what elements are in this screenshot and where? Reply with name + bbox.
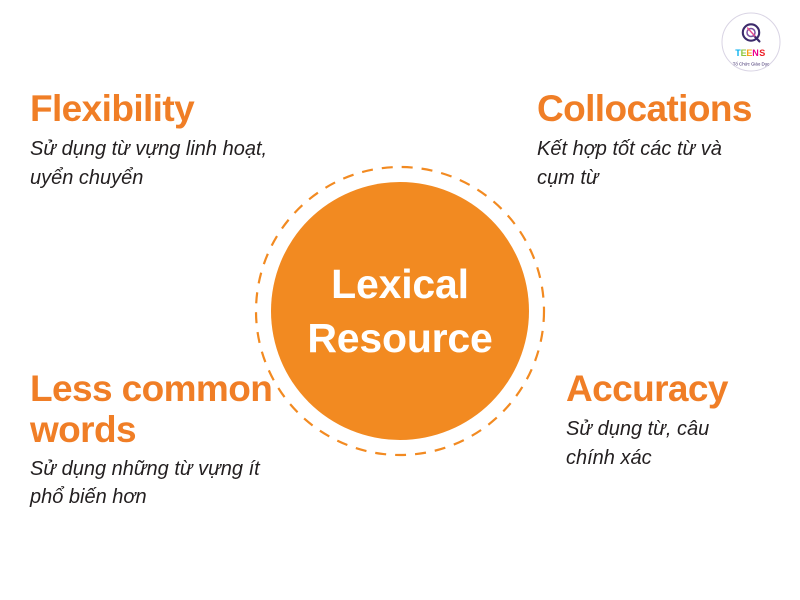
block-title-accuracy: Accuracy xyxy=(566,368,791,409)
block-body-less-common-words: Sử dụng những từ vựng ít phổ biến hơn xyxy=(30,455,320,512)
infographic-canvas: T E E N S Tổ Chức Giáo Dục Lexical Resou… xyxy=(0,0,800,600)
center-label-line1: Lexical xyxy=(331,257,469,311)
block-less-common-words: Less common words Sử dụng những từ vựng … xyxy=(30,368,320,512)
block-flexibility: Flexibility Sử dụng từ vựng linh hoạt, u… xyxy=(30,88,315,192)
center-label-line2: Resource xyxy=(307,311,492,365)
svg-text:S: S xyxy=(759,48,765,58)
block-body-flexibility: Sử dụng từ vựng linh hoạt, uyển chuyển xyxy=(30,135,315,192)
block-collocations: Collocations Kết hợp tốt các từ và cụm t… xyxy=(537,88,787,192)
svg-text:N: N xyxy=(752,48,759,58)
block-body-accuracy: Sử dụng từ, câu chính xác xyxy=(566,415,791,472)
logo-wordmark: T E E N S xyxy=(735,48,765,58)
block-accuracy: Accuracy Sử dụng từ, câu chính xác xyxy=(566,368,791,472)
logo-tagline: Tổ Chức Giáo Dục xyxy=(733,62,770,67)
block-title-less-common-words: Less common words xyxy=(30,368,320,451)
block-title-collocations: Collocations xyxy=(537,88,787,129)
block-title-flexibility: Flexibility xyxy=(30,88,315,129)
teens-logo: T E E N S Tổ Chức Giáo Dục xyxy=(713,9,789,75)
block-body-collocations: Kết hợp tốt các từ và cụm từ xyxy=(537,135,787,192)
